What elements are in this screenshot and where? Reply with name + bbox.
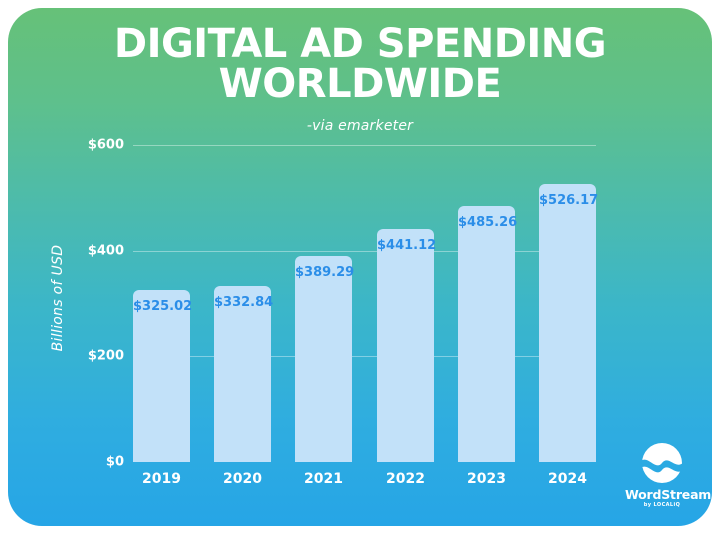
chart-subtitle: -via emarketer [8, 118, 712, 134]
bar-value-label: $389.29 [295, 265, 352, 280]
bar-value-label: $485.26 [458, 215, 515, 230]
y-axis-tick-label: $0 [106, 455, 124, 470]
bar[interactable]: $485.26 [458, 206, 515, 462]
chart-card: DIGITAL AD SPENDING WORLDWIDE -via emark… [8, 8, 712, 526]
bar[interactable]: $389.29 [295, 256, 352, 462]
bar-value-label: $441.12 [377, 238, 434, 253]
brand-logo: WordStream by LOCALiQ [625, 442, 699, 508]
bar-group: $332.842020 [214, 145, 271, 462]
bar-value-label: $325.02 [133, 299, 190, 314]
y-axis-tick-label: $600 [88, 138, 124, 153]
bar[interactable]: $325.02 [133, 290, 190, 462]
brand-name: WordStream [625, 488, 699, 501]
title-block: DIGITAL AD SPENDING WORLDWIDE -via emark… [8, 24, 712, 134]
infographic-canvas: DIGITAL AD SPENDING WORLDWIDE -via emark… [0, 0, 720, 534]
bar-group: $389.292021 [295, 145, 352, 462]
brand-tagline: by LOCALiQ [625, 502, 699, 508]
x-axis-tick-label: 2023 [458, 471, 515, 487]
chart-title: DIGITAL AD SPENDING WORLDWIDE [100, 24, 620, 104]
gridline [133, 462, 596, 463]
x-axis-tick-label: 2021 [295, 471, 352, 487]
x-axis-tick-label: 2022 [377, 471, 434, 487]
y-axis-tick-label: $400 [88, 243, 124, 258]
x-axis-tick-label: 2019 [133, 471, 190, 487]
bar-group: $441.122022 [377, 145, 434, 462]
bar-series: $325.022019$332.842020$389.292021$441.12… [133, 145, 596, 462]
y-axis-label: Billions of USD [50, 245, 66, 352]
bar-group: $325.022019 [133, 145, 190, 462]
plot-area: $0$200$400$600 $325.022019$332.842020$38… [133, 145, 596, 462]
bar-value-label: $526.17 [539, 193, 596, 208]
bar-group: $526.172024 [539, 145, 596, 462]
wordstream-wave-logo-icon [641, 442, 683, 484]
bar[interactable]: $332.84 [214, 286, 271, 462]
y-axis-tick-label: $200 [88, 349, 124, 364]
x-axis-tick-label: 2020 [214, 471, 271, 487]
x-axis-tick-label: 2024 [539, 471, 596, 487]
bar-value-label: $332.84 [214, 295, 271, 310]
bar[interactable]: $526.17 [539, 184, 596, 462]
bar[interactable]: $441.12 [377, 229, 434, 462]
bar-group: $485.262023 [458, 145, 515, 462]
